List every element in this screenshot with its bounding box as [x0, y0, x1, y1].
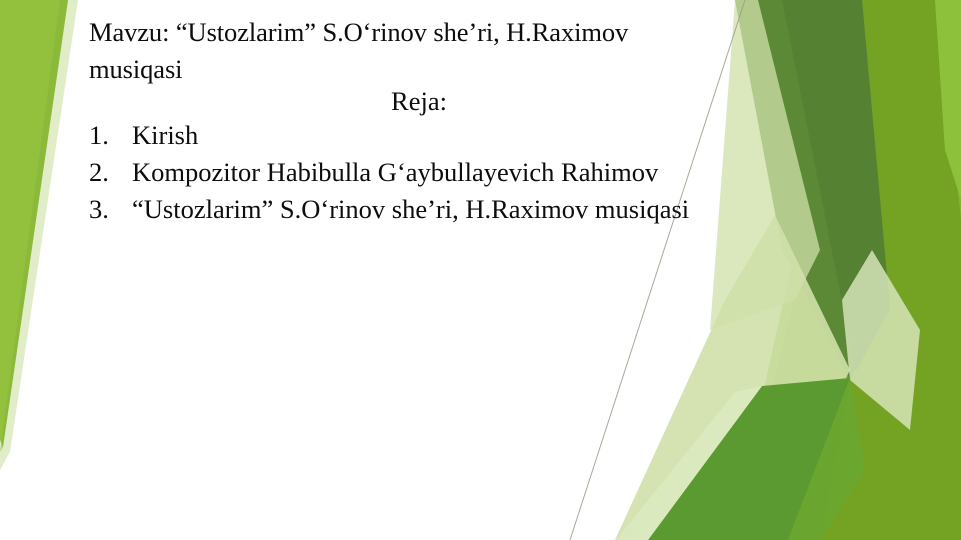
slide-title: Mavzu: “Ustozlarim” S.O‘rinov she’ri, H.…	[89, 14, 689, 87]
list-item-number: 3.	[89, 192, 123, 228]
list-item-label: Kirish	[132, 120, 198, 150]
section-heading: Reja:	[89, 84, 749, 120]
list-item-label: “Ustozlarim” S.O‘rinov she’ri, H.Raximov…	[132, 194, 689, 224]
list-item: 3. “Ustozlarim” S.O‘rinov she’ri, H.Raxi…	[89, 192, 879, 228]
list-item-number: 1.	[89, 118, 123, 154]
slide-text-content: Mavzu: “Ustozlarim” S.O‘rinov she’ri, H.…	[0, 0, 961, 540]
agenda-list: 1. Kirish 2. Kompozitor Habibulla G‘aybu…	[89, 118, 879, 229]
list-item-number: 2.	[89, 155, 123, 191]
list-item: 2. Kompozitor Habibulla G‘aybullayevich …	[89, 155, 879, 191]
list-item: 1. Kirish	[89, 118, 879, 154]
list-item-label: Kompozitor Habibulla G‘aybullayevich Rah…	[132, 157, 658, 187]
slide-title-line-1: Mavzu: “Ustozlarim” S.O‘rinov she’ri, H.…	[89, 14, 689, 51]
slide-title-line-2: musiqasi	[89, 51, 689, 88]
slide-canvas: Mavzu: “Ustozlarim” S.O‘rinov she’ri, H.…	[0, 0, 961, 540]
